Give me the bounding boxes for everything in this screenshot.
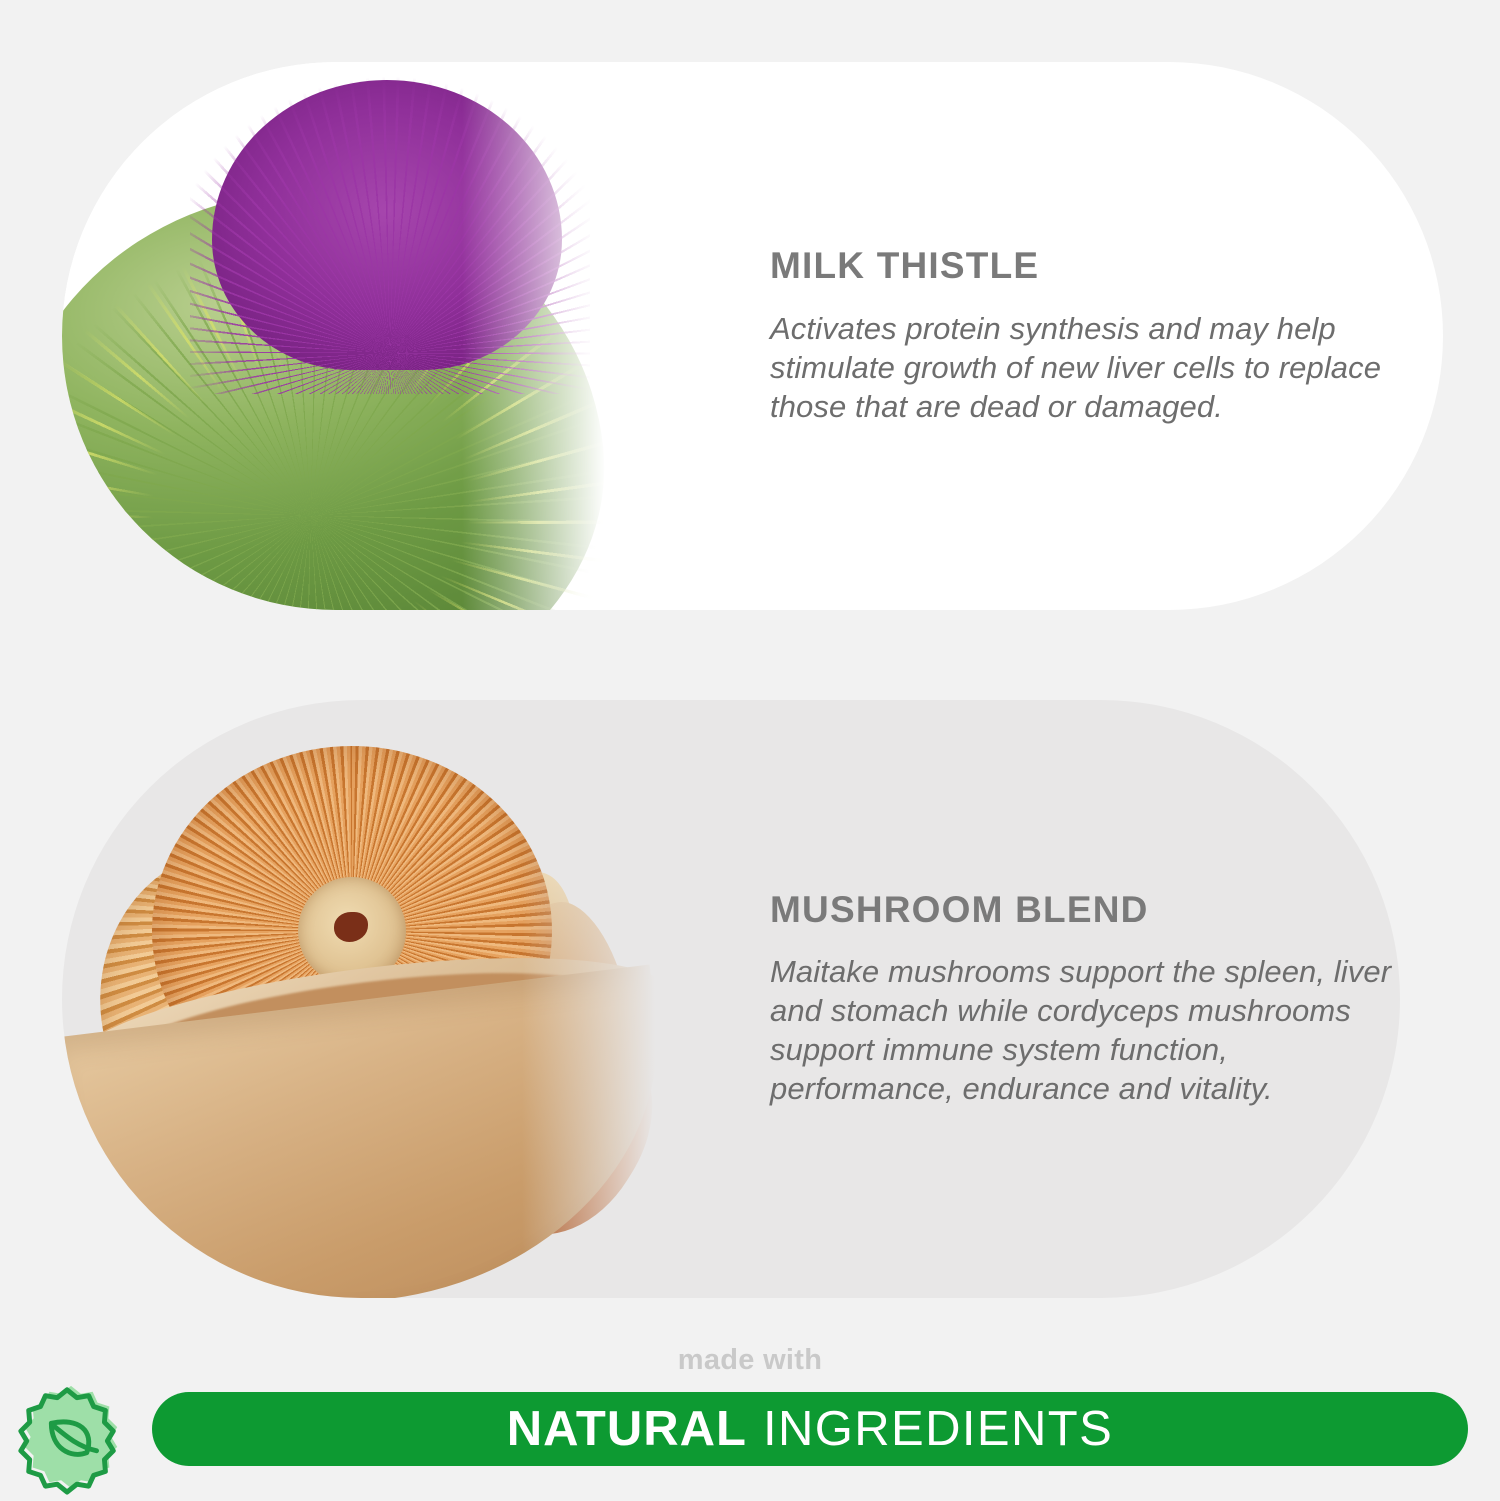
card-title-milk-thistle: MILK THISTLE — [770, 246, 1430, 287]
card-body-milk-thistle: Activates protein synthesis and may help… — [770, 309, 1430, 426]
thistle-image-fade — [462, 62, 662, 610]
card-milk-thistle-text: MILK THISTLE Activates protein synthesis… — [770, 62, 1430, 610]
natural-ingredients-banner: NATURAL INGREDIENTS — [152, 1392, 1468, 1466]
made-with-label: made with — [0, 1344, 1500, 1377]
card-mushroom-blend-text: MUSHROOM BLEND Maitake mushrooms support… — [770, 700, 1400, 1298]
card-mushroom-blend: MUSHROOM BLEND Maitake mushrooms support… — [62, 700, 1400, 1298]
card-body-mushroom-blend: Maitake mushrooms support the spleen, li… — [770, 952, 1400, 1108]
banner-light-text: INGREDIENTS — [763, 1401, 1113, 1457]
mushroom-image-fade — [522, 700, 702, 1298]
banner-strong-text: NATURAL — [507, 1401, 747, 1457]
milk-thistle-image — [62, 62, 662, 610]
card-milk-thistle: MILK THISTLE Activates protein synthesis… — [62, 62, 1443, 610]
card-milk-thistle-inner: MILK THISTLE Activates protein synthesis… — [62, 62, 1443, 610]
mushroom-blend-image — [62, 700, 702, 1298]
leaf-badge-icon — [12, 1378, 130, 1496]
card-title-mushroom-blend: MUSHROOM BLEND — [770, 890, 1400, 931]
page-root: MILK THISTLE Activates protein synthesis… — [0, 0, 1500, 1500]
footer: made with NATURAL INGREDIENTS — [0, 1340, 1500, 1500]
